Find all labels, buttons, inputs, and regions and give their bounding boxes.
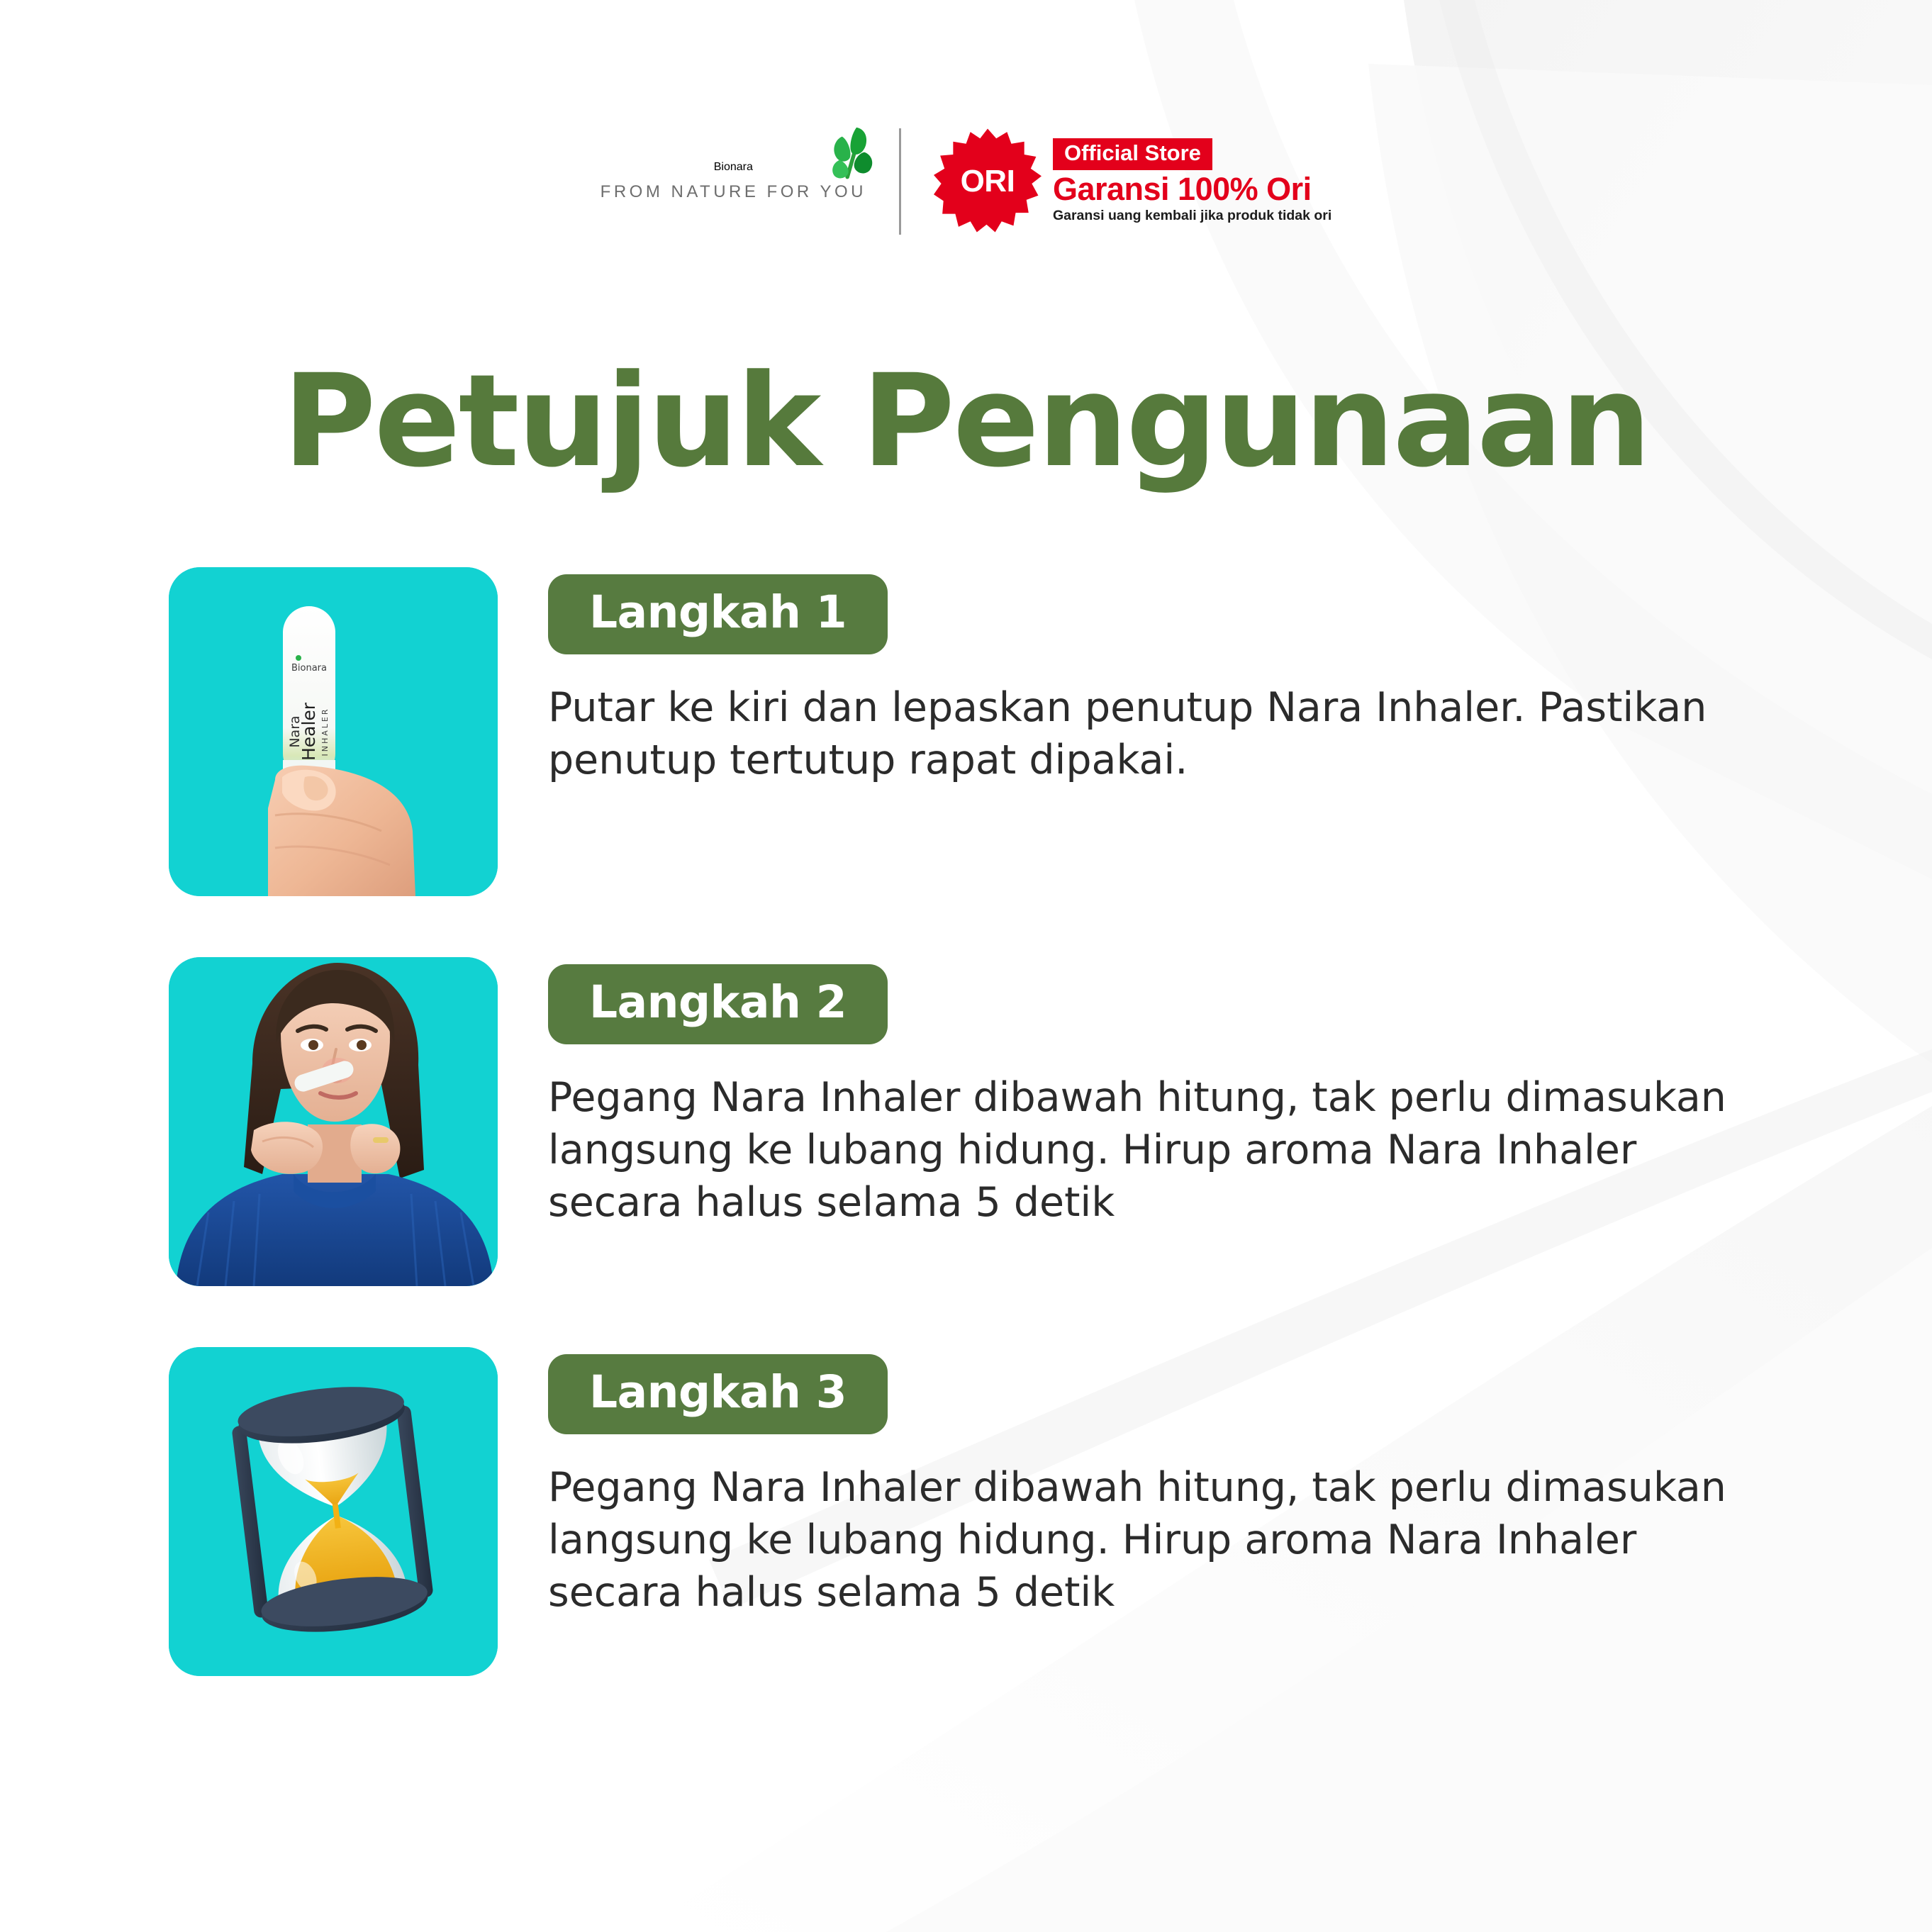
step-text: Putar ke kiri dan lepaskan penutup Nara …: [548, 681, 1768, 786]
svg-text:Healer: Healer: [298, 702, 319, 761]
ori-seal-label: ORI: [934, 128, 1042, 235]
step-text: Pegang Nara Inhaler dibawah hitung, tak …: [548, 1461, 1768, 1619]
step-badge: Langkah 2: [548, 964, 888, 1044]
step-row: Langkah 2 Pegang Nara Inhaler dibawah hi…: [0, 957, 1932, 1286]
leaf-icon: [816, 117, 881, 182]
svg-text:Bionara: Bionara: [291, 663, 327, 674]
hourglass-photo: [169, 1347, 498, 1676]
brand-header: Bionara FROM NATURE FOR YOU ORI Official…: [0, 128, 1932, 235]
step-text: Pegang Nara Inhaler dibawah hitung, tak …: [548, 1071, 1768, 1229]
brand-name: Bionara: [714, 161, 753, 174]
hand-holding-inhaler-photo: Bionara Nara Healer INHALER: [169, 567, 498, 896]
brand-tagline: FROM NATURE FOR YOU: [601, 182, 866, 202]
ori-guarantee-badge: ORI Official Store Garansi 100% Ori Gara…: [934, 128, 1331, 235]
ori-seal-icon: ORI: [934, 128, 1042, 235]
header-divider: [899, 128, 901, 235]
page-title: Petujuk Pengunaan: [0, 347, 1932, 496]
bionara-logo: Bionara FROM NATURE FOR YOU: [601, 161, 866, 202]
steps-list: Bionara Nara Healer INHALER Langkah 1 Pu…: [0, 567, 1932, 1737]
official-store-label: Official Store: [1053, 138, 1212, 170]
guarantee-subtext: Garansi uang kembali jika produk tidak o…: [1053, 208, 1331, 224]
step-badge: Langkah 3: [548, 1354, 888, 1434]
guarantee-headline: Garansi 100% Ori: [1053, 172, 1312, 207]
woman-inhaling-photo: [169, 957, 498, 1286]
step-row: Bionara Nara Healer INHALER Langkah 1 Pu…: [0, 567, 1932, 896]
step-badge: Langkah 1: [548, 574, 888, 654]
step-row: Langkah 3 Pegang Nara Inhaler dibawah hi…: [0, 1347, 1932, 1676]
svg-text:INHALER: INHALER: [320, 708, 330, 756]
